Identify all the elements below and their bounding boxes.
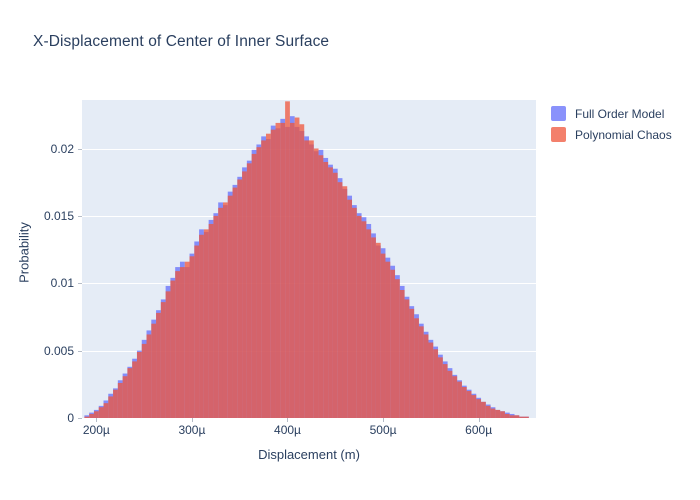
y-tick-label: 0.02 bbox=[51, 142, 74, 156]
chart-figure: X-Displacement of Center of Inner Surfac… bbox=[0, 0, 700, 500]
x-tick-label: 200µ bbox=[83, 423, 110, 437]
legend-swatch-icon bbox=[551, 127, 566, 142]
histogram-bar bbox=[280, 123, 285, 418]
histogram-bar bbox=[271, 130, 276, 418]
y-tickmark bbox=[78, 351, 82, 352]
histogram-bar bbox=[371, 237, 376, 418]
histogram-bar bbox=[237, 180, 242, 419]
y-tickmark bbox=[78, 418, 82, 419]
histogram-bar bbox=[108, 396, 113, 418]
histogram-bar bbox=[84, 417, 89, 418]
legend-swatch-icon bbox=[551, 106, 566, 121]
histogram-bar bbox=[452, 376, 457, 418]
histogram-bar bbox=[428, 343, 433, 418]
histogram-bar bbox=[252, 154, 257, 418]
histogram-bar bbox=[314, 149, 319, 418]
x-tick-label: 400µ bbox=[274, 423, 301, 437]
legend-label: Polynomial Chaos bbox=[575, 128, 672, 142]
histogram-bar bbox=[471, 395, 476, 418]
histogram-bar bbox=[123, 376, 128, 418]
y-tickmark bbox=[78, 149, 82, 150]
histogram-bar bbox=[495, 410, 500, 418]
histogram-bar bbox=[323, 162, 328, 418]
histogram-bar bbox=[118, 383, 123, 418]
histogram-bar bbox=[223, 202, 228, 418]
histogram-bar bbox=[132, 361, 137, 418]
histogram-bar bbox=[328, 167, 333, 418]
histogram-bar bbox=[113, 390, 118, 418]
histogram-bar bbox=[338, 182, 343, 418]
x-tick-label: 500µ bbox=[370, 423, 397, 437]
histogram-bar bbox=[180, 267, 185, 418]
histogram-bar bbox=[500, 411, 505, 418]
x-tickmark bbox=[479, 418, 480, 422]
histogram-bar bbox=[299, 124, 304, 418]
histogram-bar bbox=[390, 270, 395, 418]
histogram-bar bbox=[414, 318, 419, 418]
histogram-bar bbox=[505, 414, 510, 418]
histogram-bar bbox=[395, 279, 400, 418]
histogram-bar bbox=[99, 407, 104, 418]
histogram-bar bbox=[94, 411, 99, 418]
histogram-bar bbox=[137, 352, 142, 418]
x-tick-label: 600µ bbox=[465, 423, 492, 437]
histogram-bar bbox=[266, 134, 271, 418]
histogram-bar bbox=[228, 196, 233, 418]
histogram-bar bbox=[424, 334, 429, 418]
histogram-bar bbox=[319, 155, 324, 418]
histogram-bar bbox=[156, 313, 161, 418]
histogram-bar bbox=[481, 402, 486, 418]
histogram-bar bbox=[285, 101, 290, 418]
histogram-bar bbox=[218, 208, 223, 418]
histogram-bar bbox=[256, 147, 261, 418]
series-polynomial-chaos bbox=[84, 101, 528, 418]
x-tickmark bbox=[96, 418, 97, 422]
y-tickmark bbox=[78, 216, 82, 217]
histogram-bar bbox=[443, 364, 448, 418]
histogram-bar bbox=[276, 123, 281, 418]
histogram-bar bbox=[376, 243, 381, 418]
histogram-bar bbox=[333, 173, 338, 418]
histogram-bar bbox=[342, 186, 347, 418]
histogram-bar bbox=[213, 216, 218, 418]
histogram-bar bbox=[151, 324, 156, 418]
histogram-bar bbox=[433, 349, 438, 418]
histogram-bar bbox=[175, 271, 180, 418]
histogram-bar bbox=[142, 344, 147, 418]
histogram-bar bbox=[519, 417, 524, 418]
histogram-bar bbox=[448, 371, 453, 418]
x-axis-ticks: 200µ300µ400µ500µ600µ bbox=[0, 423, 700, 441]
histogram-bar bbox=[295, 118, 300, 418]
histogram-bar bbox=[170, 281, 175, 418]
histogram-bar bbox=[194, 246, 199, 418]
histogram-bar bbox=[462, 387, 467, 418]
histogram-bar bbox=[366, 229, 371, 418]
histogram-bar bbox=[491, 409, 496, 418]
histogram-bar bbox=[166, 291, 171, 418]
histogram-bar bbox=[89, 414, 94, 418]
x-axis-title: Displacement (m) bbox=[82, 447, 536, 462]
histogram-bar bbox=[467, 391, 472, 418]
chart-title: X-Displacement of Center of Inner Surfac… bbox=[33, 33, 329, 51]
histogram-bar bbox=[457, 382, 462, 418]
histogram-bar bbox=[204, 229, 209, 418]
histogram-bar bbox=[385, 262, 390, 418]
histogram-bar bbox=[242, 171, 247, 418]
histogram-bar bbox=[304, 140, 309, 418]
x-tick-label: 300µ bbox=[178, 423, 205, 437]
histogram-bars bbox=[82, 100, 536, 418]
legend-label: Full Order Model bbox=[575, 107, 664, 121]
y-axis-title: Probability bbox=[17, 193, 32, 313]
histogram-bar bbox=[247, 163, 252, 418]
histogram-bar bbox=[127, 368, 132, 418]
histogram-bar bbox=[357, 216, 362, 418]
legend-item-2[interactable]: Polynomial Chaos bbox=[551, 125, 696, 144]
histogram-bar bbox=[514, 415, 519, 418]
y-tickmark bbox=[78, 283, 82, 284]
histogram-bar bbox=[400, 290, 405, 418]
histogram-bar bbox=[405, 299, 410, 418]
histogram-bar bbox=[409, 309, 414, 418]
histogram-bar bbox=[476, 399, 481, 418]
x-tickmark bbox=[287, 418, 288, 422]
histogram-bar bbox=[104, 403, 109, 418]
histogram-bar bbox=[233, 188, 238, 418]
histogram-bar bbox=[362, 221, 367, 418]
histogram-bar bbox=[185, 262, 190, 418]
histogram-bar bbox=[309, 140, 314, 418]
x-tickmark bbox=[383, 418, 384, 422]
histogram-bar bbox=[209, 224, 214, 418]
histogram-bar bbox=[352, 208, 357, 418]
y-axis-ticks: 00.0050.010.0150.02 bbox=[0, 100, 74, 418]
histogram-bar bbox=[161, 302, 166, 418]
histogram-bar bbox=[381, 254, 386, 418]
histogram-bar bbox=[419, 326, 424, 418]
chart-legend[interactable]: Full Order ModelPolynomial Chaos bbox=[551, 104, 696, 146]
histogram-bar bbox=[261, 140, 266, 418]
y-tick-label: 0.005 bbox=[44, 344, 74, 358]
histogram-bar bbox=[199, 235, 204, 418]
histogram-bar bbox=[190, 256, 195, 418]
histogram-bar bbox=[438, 357, 443, 418]
legend-item-1[interactable]: Full Order Model bbox=[551, 104, 696, 123]
plot-area[interactable] bbox=[82, 100, 536, 418]
histogram-bar bbox=[147, 334, 152, 418]
histogram-bar bbox=[347, 200, 352, 418]
y-tick-label: 0.01 bbox=[51, 276, 74, 290]
histogram-bar bbox=[524, 417, 529, 418]
x-tickmark bbox=[192, 418, 193, 422]
histogram-bar bbox=[486, 406, 491, 418]
histogram-bar bbox=[290, 123, 295, 418]
histogram-bar bbox=[510, 415, 515, 418]
y-tick-label: 0.015 bbox=[44, 209, 74, 223]
